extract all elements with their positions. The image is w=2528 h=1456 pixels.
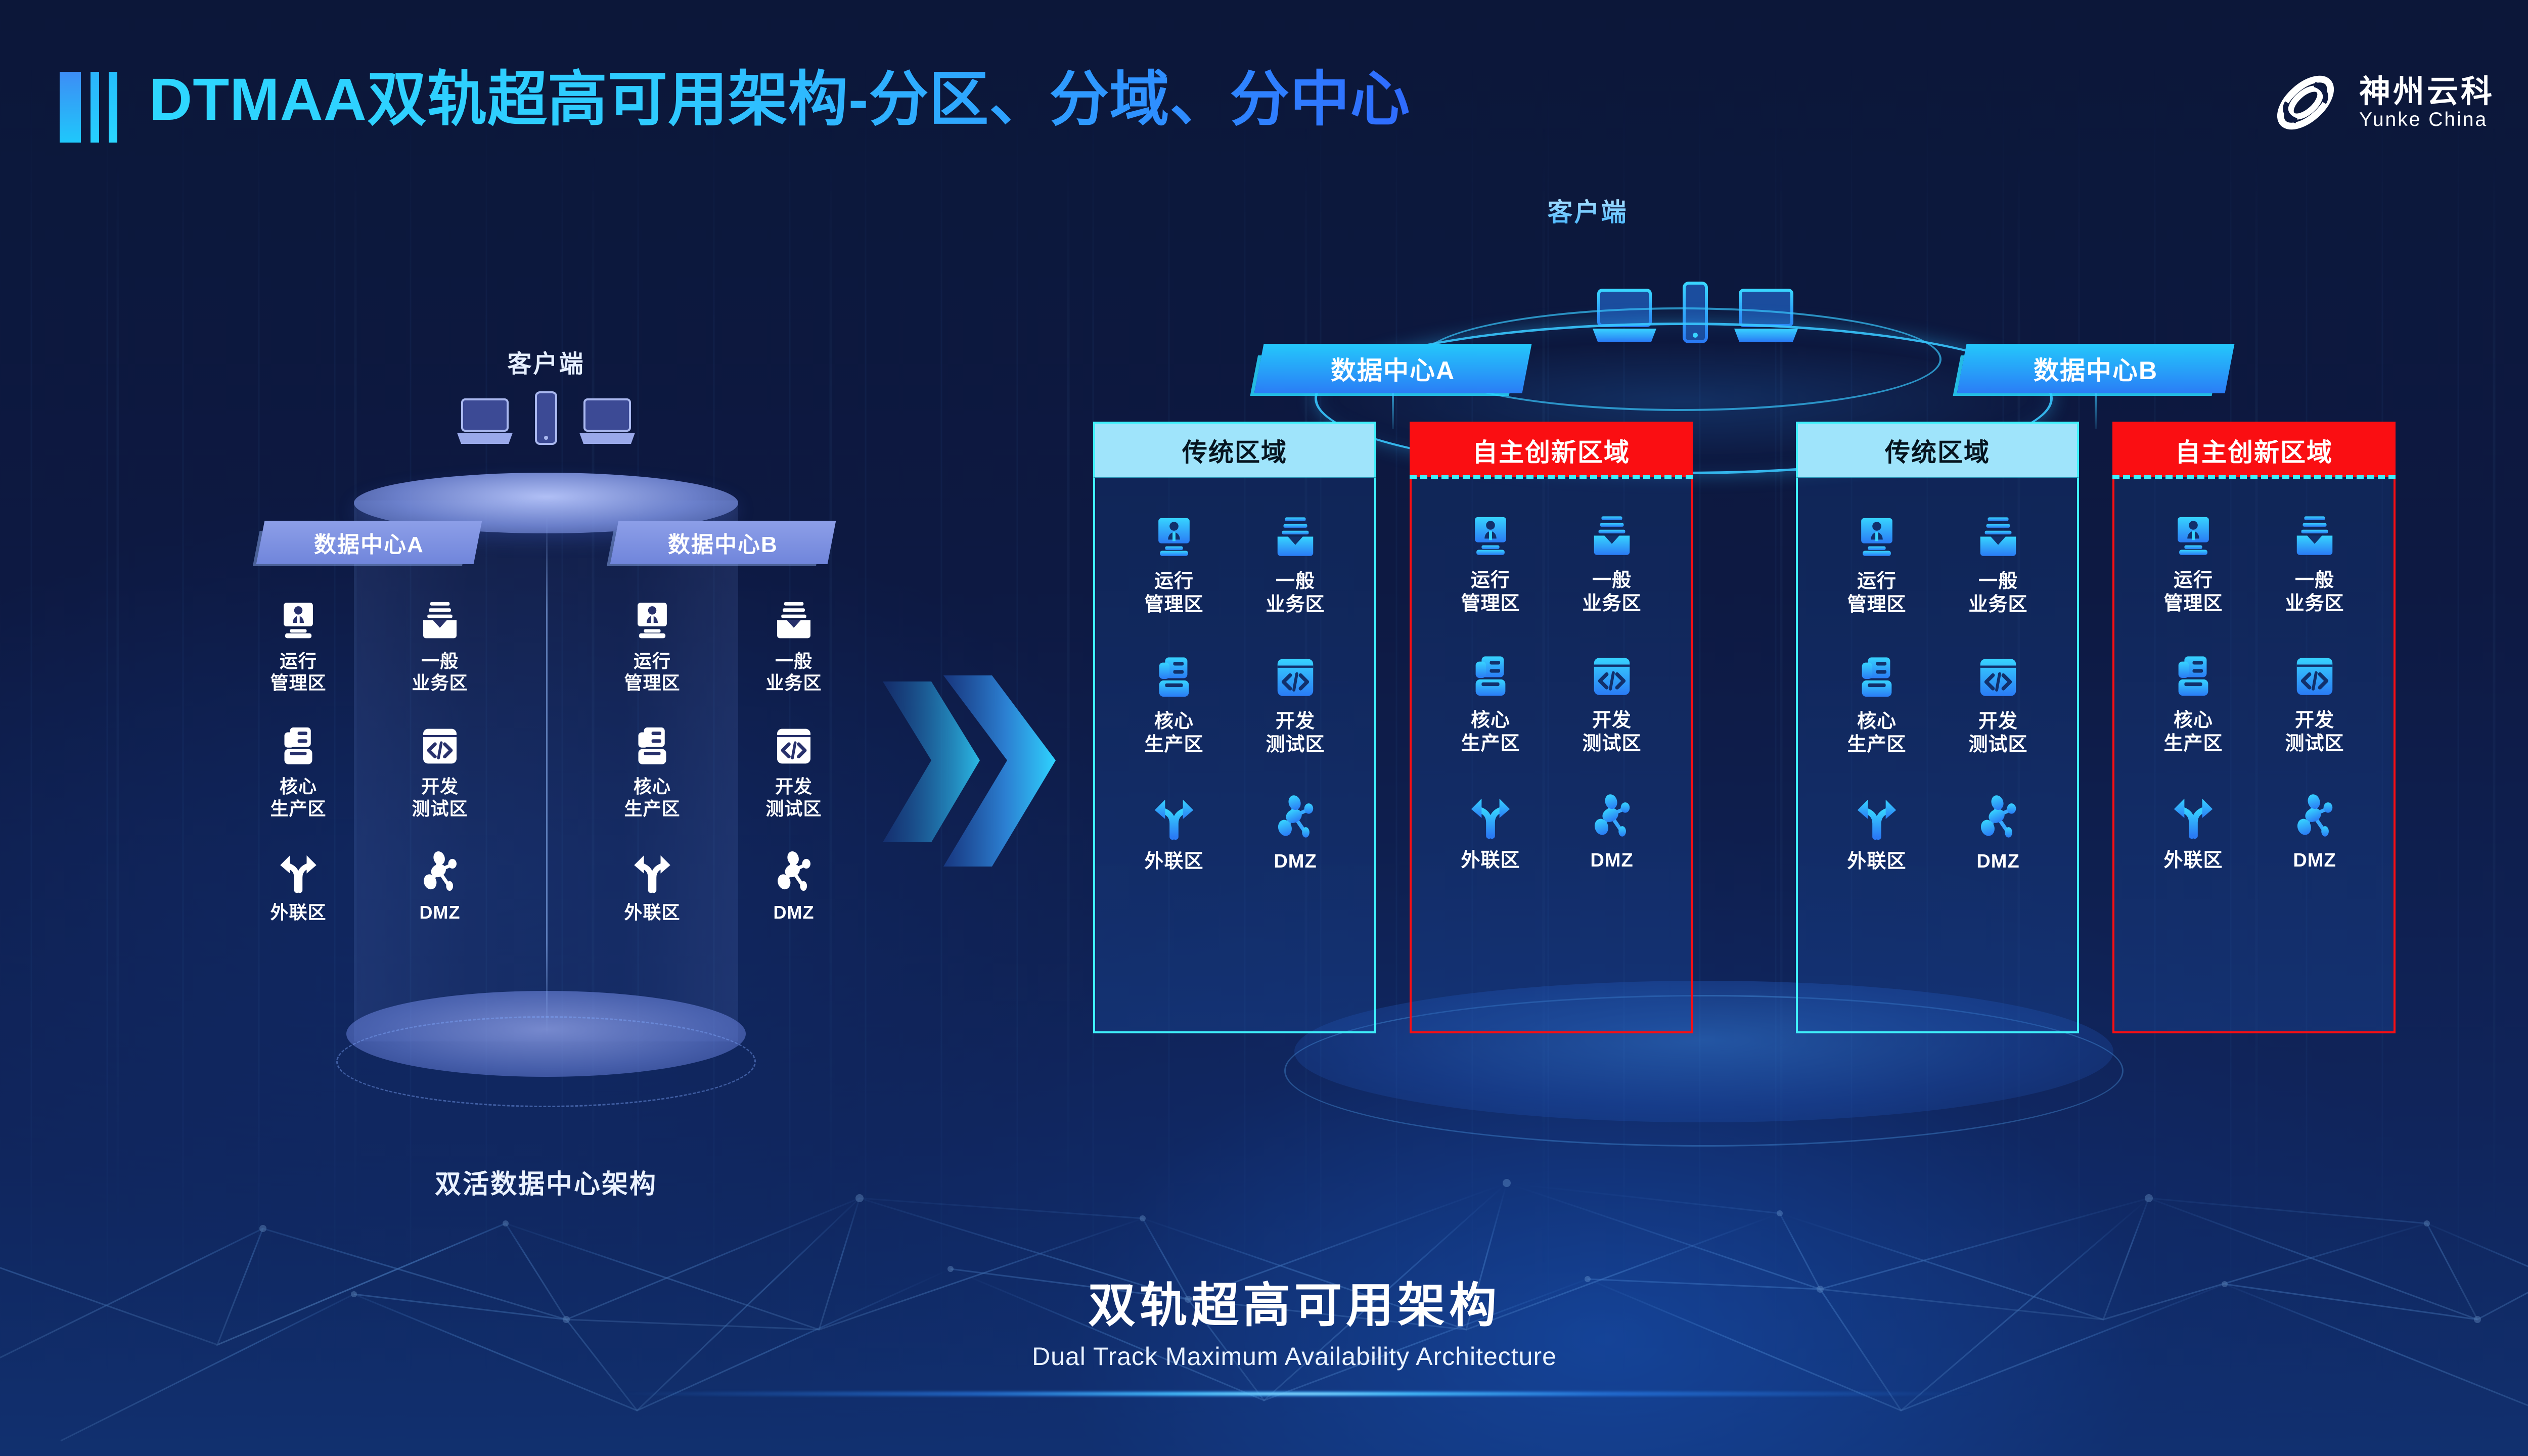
zone-grid: 运行 管理区 一般: [1113, 514, 1356, 874]
zone-cell-5[interactable]: DMZ: [1937, 794, 2059, 874]
zone-cell-5-label: DMZ: [1590, 849, 1633, 873]
innovation-dashed-separator: [2112, 475, 2396, 479]
network-nodes-icon: [1974, 794, 2022, 841]
right-dc-b-stem: [2095, 393, 2097, 429]
left-zone-b-3-label: 开发 测试区: [765, 776, 822, 819]
left-zone-a-2[interactable]: 核心 生产区: [228, 724, 369, 819]
zone-label-line2: 管理区: [624, 672, 680, 694]
zone-label-line2: 测试区: [1582, 733, 1641, 756]
right-dc-a-innovation-zone[interactable]: 自主创新区域 运行 管: [1410, 422, 1693, 1033]
page-header: DTMAA双轨超高可用架构-分区、分域、分中心 神州云科 Yunke China: [0, 0, 2528, 152]
left-zone-a-5[interactable]: DMZ: [369, 850, 511, 923]
network-nodes-icon: [1272, 794, 1319, 841]
zone-label-line1: 一般: [1582, 569, 1641, 593]
left-zone-a-4-label: 外联区: [270, 901, 326, 923]
swirl-logo-icon: [2265, 65, 2346, 141]
right-dc-a-label: 数据中心A: [1331, 350, 1455, 387]
zone-label-line1: 一般: [1968, 570, 2027, 594]
laptop-icon: [575, 397, 639, 446]
zone-label-line1: 核心: [1461, 709, 1520, 733]
right-dc-b-label: 数据中心B: [2034, 350, 2158, 387]
left-dc-a-zone-grid: 运行 管理区 一般 业务区: [192, 599, 546, 923]
zone-cell-0-label: 运行 管理区: [1847, 570, 1906, 616]
zone-cell-0[interactable]: 运行 管理区: [1113, 514, 1235, 616]
laptop-icon: [453, 397, 517, 446]
right-dc-b-innovation-title: 自主创新区域: [2112, 422, 2396, 477]
right-dc-b-zones: 传统区域 运行 管理区: [1785, 422, 2407, 1033]
zone-label-line2: 业务区: [1266, 594, 1325, 617]
person-monitor-icon: [276, 599, 321, 643]
zone-cell-1-label: 一般 业务区: [1582, 569, 1641, 615]
right-dc-a-stem: [1392, 393, 1394, 429]
inbox-tray-icon: [1588, 513, 1636, 560]
header-accent-bars: [60, 72, 117, 143]
page-title: DTMAA双轨超高可用架构-分区、分域、分中心: [149, 64, 1410, 136]
right-dc-a-traditional-body: 运行 管理区 一般: [1093, 477, 1376, 1033]
zone-label-line1: 运行: [1847, 570, 1906, 594]
network-nodes-icon: [772, 850, 816, 894]
right-dc-a-traditional-title: 传统区域: [1093, 422, 1376, 477]
zone-label-line1: DMZ: [2293, 849, 2336, 873]
zone-cell-5-label: DMZ: [1976, 850, 2019, 874]
branch-arrows-icon: [276, 850, 321, 894]
zone-label-line2: 业务区: [2285, 593, 2344, 616]
inbox-tray-icon: [2291, 513, 2338, 560]
left-zone-b-3[interactable]: 开发 测试区: [723, 724, 865, 819]
branch-arrows-icon: [1467, 793, 1514, 840]
person-monitor-icon: [2170, 513, 2217, 560]
zone-cell-0[interactable]: 运行 管理区: [1430, 513, 1551, 615]
zone-cell-2[interactable]: 核心 生产区: [1113, 654, 1235, 756]
left-zone-a-0-label: 运行 管理区: [270, 650, 326, 694]
zone-label-line2: 业务区: [1968, 594, 2027, 617]
code-window-icon: [1272, 654, 1319, 701]
zone-label-line2: 生产区: [1847, 734, 1906, 757]
zone-label-line1: 开发: [412, 776, 468, 797]
right-dc-b-traditional-zone[interactable]: 传统区域 运行 管理区: [1796, 422, 2079, 1033]
zone-cell-5[interactable]: DMZ: [1551, 793, 1673, 873]
zone-cell-5[interactable]: DMZ: [2254, 793, 2375, 873]
zone-grid: 运行 管理区 一般: [1816, 514, 2059, 874]
zone-cell-4-label: 外联区: [2163, 849, 2223, 873]
zone-label-line1: 运行: [1144, 570, 1203, 594]
left-zone-a-1-label: 一般 业务区: [412, 650, 468, 694]
zone-label-line2: 生产区: [1144, 734, 1203, 757]
zone-label-line1: 运行: [2163, 569, 2223, 593]
code-window-icon: [2291, 653, 2338, 700]
right-dc-b-banner[interactable]: 数据中心B: [1957, 344, 2234, 393]
bottom-caption-en: Dual Track Maximum Availability Architec…: [0, 1342, 2528, 1371]
right-dc-a-zones: 传统区域 运行: [1082, 422, 1704, 1033]
right-dc-b-innovation-zone[interactable]: 自主创新区域 运行 管: [2112, 422, 2396, 1033]
zone-cell-2-label: 核心 生产区: [2163, 709, 2223, 755]
left-dc-b-label: 数据中心B: [668, 526, 778, 559]
zone-label-line1: DMZ: [774, 901, 815, 923]
inbox-tray-icon: [1272, 514, 1319, 561]
server-stack-icon: [2170, 653, 2217, 700]
zone-cell-1-label: 一般 业务区: [1968, 570, 2027, 616]
zone-cell-1[interactable]: 一般 业务区: [2254, 513, 2375, 615]
zone-label-line1: 运行: [270, 650, 326, 672]
right-datacenter-a: 数据中心A 传统区域: [1082, 344, 1704, 1033]
right-datacenter-b: 数据中心B 传统区域: [1785, 344, 2407, 1033]
code-window-icon: [1974, 654, 2022, 701]
zone-cell-1-label: 一般 业务区: [2285, 569, 2344, 615]
logo-name-en: Yunke China: [2359, 110, 2495, 129]
left-zone-a-3-label: 开发 测试区: [412, 776, 468, 819]
code-window-icon: [772, 724, 816, 768]
zone-label-line1: 开发: [765, 776, 822, 797]
right-dc-b-innovation-body: 运行 管理区 一般: [2112, 477, 2396, 1033]
zone-label-line1: 开发: [2285, 709, 2344, 733]
left-client-label: 客户端: [192, 344, 900, 379]
server-stack-icon: [630, 724, 674, 768]
zone-label-line2: 管理区: [1461, 593, 1520, 616]
inbox-tray-icon: [772, 599, 816, 643]
zone-label-line1: 核心: [624, 776, 680, 797]
left-datacenter-b: 数据中心B 运行 管理区: [546, 521, 900, 923]
zone-label-line2: 业务区: [1582, 593, 1641, 616]
zone-label-line2: 生产区: [270, 798, 326, 820]
left-datacenters: 数据中心A 运行 管理区: [192, 521, 900, 923]
left-zone-b-2-label: 核心 生产区: [624, 776, 680, 819]
zone-cell-3-label: 开发 测试区: [1968, 710, 2027, 756]
zone-cell-0-label: 运行 管理区: [1144, 570, 1203, 616]
left-zone-a-2-label: 核心 生产区: [270, 776, 326, 819]
zone-label-line1: 核心: [1847, 710, 1906, 734]
person-monitor-icon: [1150, 514, 1198, 561]
left-zone-b-5[interactable]: DMZ: [723, 850, 865, 923]
zone-cell-2-label: 核心 生产区: [1144, 710, 1203, 756]
zone-label-line2: 生产区: [2163, 733, 2223, 756]
right-dc-b-traditional-title: 传统区域: [1796, 422, 2079, 477]
left-zone-a-0[interactable]: 运行 管理区: [228, 599, 369, 694]
zone-label-line1: DMZ: [1274, 850, 1317, 874]
right-client-label: 客户端: [1497, 192, 1679, 229]
code-window-icon: [1588, 653, 1636, 700]
code-window-icon: [418, 724, 462, 768]
server-stack-icon: [1853, 654, 1901, 701]
zone-label-line1: 一般: [2285, 569, 2344, 593]
zone-label-line2: 测试区: [1266, 734, 1325, 757]
left-zone-b-4-label: 外联区: [624, 901, 680, 923]
logo-name-cn: 神州云科: [2359, 76, 2495, 108]
right-dc-b-traditional-body: 运行 管理区 一般: [1796, 477, 2079, 1033]
zone-label-line1: 运行: [1461, 569, 1520, 593]
left-dc-b-zone-grid: 运行 管理区 一般 业务区: [546, 599, 900, 923]
zone-label-line1: 核心: [1144, 710, 1203, 734]
zone-cell-4[interactable]: 外联区: [1816, 794, 1937, 874]
right-dc-a-traditional-zone[interactable]: 传统区域 运行: [1093, 422, 1376, 1033]
zone-label-line1: 外联区: [1847, 850, 1906, 874]
zone-label-line2: 业务区: [412, 672, 468, 694]
zone-cell-2[interactable]: 核心 生产区: [2133, 653, 2254, 755]
network-nodes-icon: [2291, 793, 2338, 840]
zone-label-line1: 运行: [624, 650, 680, 672]
server-stack-icon: [1150, 654, 1198, 701]
zone-label-line1: 一般: [765, 650, 822, 672]
dtmaa-architecture-panel: 客户端 数据中心A 传统区域: [1011, 192, 2477, 1203]
accent-bar-narrow-icon: [91, 72, 99, 143]
left-dc-a-label: 数据中心A: [314, 526, 424, 559]
left-zone-b-4[interactable]: 外联区: [581, 850, 723, 923]
zone-label-line2: 测试区: [412, 798, 468, 820]
zone-cell-3-label: 开发 测试区: [1266, 710, 1325, 756]
zone-label-line1: DMZ: [420, 901, 461, 923]
left-zone-a-1[interactable]: 一般 业务区: [369, 599, 511, 694]
zone-label-line2: 管理区: [2163, 593, 2223, 616]
zone-cell-0[interactable]: 运行 管理区: [2133, 513, 2254, 615]
zone-grid: 运行 管理区 一般: [1430, 513, 1673, 873]
left-zone-a-5-label: DMZ: [420, 901, 461, 923]
left-dc-b-banner[interactable]: 数据中心B: [610, 521, 836, 564]
zone-label-line2: 生产区: [624, 798, 680, 820]
branch-arrows-icon: [1150, 794, 1198, 841]
zone-cell-4[interactable]: 外联区: [1430, 793, 1551, 873]
zone-label-line2: 管理区: [1847, 594, 1906, 617]
zone-label-line1: 外联区: [2163, 849, 2223, 873]
server-stack-icon: [276, 724, 321, 768]
left-zone-b-5-label: DMZ: [774, 901, 815, 923]
right-dc-a-innovation-title: 自主创新区域: [1410, 422, 1693, 477]
zone-cell-1[interactable]: 一般 业务区: [1235, 514, 1356, 616]
zone-cell-1[interactable]: 一般 业务区: [1551, 513, 1673, 615]
inbox-tray-icon: [418, 599, 462, 643]
bottom-caption-cn: 双轨超高可用架构: [0, 1276, 2528, 1335]
right-dc-a-banner[interactable]: 数据中心A: [1254, 344, 1531, 393]
zone-cell-2[interactable]: 核心 生产区: [1816, 654, 1937, 756]
zone-cell-3-label: 开发 测试区: [1582, 709, 1641, 755]
network-nodes-icon: [418, 850, 462, 894]
zone-cell-4-label: 外联区: [1461, 849, 1520, 873]
zone-cell-2-label: 核心 生产区: [1461, 709, 1520, 755]
zone-label-line2: 测试区: [765, 798, 822, 820]
branch-arrows-icon: [2170, 793, 2217, 840]
left-zone-a-3[interactable]: 开发 测试区: [369, 724, 511, 819]
zone-label-line1: 一般: [1266, 570, 1325, 594]
zone-cell-1[interactable]: 一般 业务区: [1937, 514, 2059, 616]
left-zone-b-1[interactable]: 一般 业务区: [723, 599, 865, 694]
zone-label-line1: 外联区: [1461, 849, 1520, 873]
zone-label-line1: 核心: [270, 776, 326, 797]
zone-cell-0[interactable]: 运行 管理区: [1816, 514, 1937, 616]
server-stack-icon: [1467, 653, 1514, 700]
network-nodes-icon: [1588, 793, 1636, 840]
zone-label-line1: 开发: [1582, 709, 1641, 733]
zone-cell-5[interactable]: DMZ: [1235, 794, 1356, 874]
zone-cell-5-label: DMZ: [1274, 850, 1317, 874]
left-zone-a-4[interactable]: 外联区: [228, 850, 369, 923]
person-monitor-icon: [1853, 514, 1901, 561]
zone-cell-4-label: 外联区: [1144, 850, 1203, 874]
left-zone-b-0[interactable]: 运行 管理区: [581, 599, 723, 694]
innovation-dashed-separator: [1410, 475, 1693, 479]
zone-cell-2[interactable]: 核心 生产区: [1430, 653, 1551, 755]
zone-label-line2: 管理区: [1144, 594, 1203, 617]
left-client-devices: [453, 390, 639, 446]
zone-label-line1: 核心: [2163, 709, 2223, 733]
inbox-tray-icon: [1974, 514, 2022, 561]
zone-cell-4[interactable]: 外联区: [1113, 794, 1235, 874]
zone-label-line1: DMZ: [1976, 850, 2019, 874]
left-zone-b-0-label: 运行 管理区: [624, 650, 680, 694]
branch-arrows-icon: [630, 850, 674, 894]
left-panel-caption: 双活数据中心架构: [192, 1163, 900, 1201]
zone-label-line2: 生产区: [1461, 733, 1520, 756]
zone-label-line1: 开发: [1968, 710, 2027, 734]
left-datacenter-a: 数据中心A 运行 管理区: [192, 521, 546, 923]
person-monitor-icon: [1467, 513, 1514, 560]
legacy-architecture-panel: 客户端 数据中心A: [192, 354, 900, 1213]
zone-grid: 运行 管理区 一般: [2133, 513, 2375, 873]
person-monitor-icon: [630, 599, 674, 643]
zone-cell-3[interactable]: 开发 测试区: [1937, 654, 2059, 756]
branch-arrows-icon: [1853, 794, 1901, 841]
zone-label-line1: 一般: [412, 650, 468, 672]
left-zone-b-1-label: 一般 业务区: [765, 650, 822, 694]
zone-cell-0-label: 运行 管理区: [1461, 569, 1520, 615]
zone-cell-3[interactable]: 开发 测试区: [1235, 654, 1356, 756]
zone-label-line2: 业务区: [765, 672, 822, 694]
left-dc-a-banner[interactable]: 数据中心A: [256, 521, 482, 564]
bottom-glow-line: [612, 1391, 1977, 1396]
zone-cell-3[interactable]: 开发 测试区: [1551, 653, 1673, 755]
bottom-caption: 双轨超高可用架构 Dual Track Maximum Availability…: [0, 1276, 2528, 1372]
zone-cell-1-label: 一般 业务区: [1266, 570, 1325, 616]
zone-cell-5-label: DMZ: [2293, 849, 2336, 873]
left-zone-b-2[interactable]: 核心 生产区: [581, 724, 723, 819]
accent-bar-wide-icon: [60, 72, 81, 143]
zone-label-line2: 管理区: [270, 672, 326, 694]
zone-label-line2: 测试区: [2285, 733, 2344, 756]
zone-cell-3[interactable]: 开发 测试区: [2254, 653, 2375, 755]
zone-label-line1: 开发: [1266, 710, 1325, 734]
zone-label-line1: DMZ: [1590, 849, 1633, 873]
right-dc-a-innovation-body: 运行 管理区 一般: [1410, 477, 1693, 1033]
zone-label-line1: 外联区: [270, 901, 326, 923]
zone-label-line1: 外联区: [1144, 850, 1203, 874]
accent-bar-narrow-icon: [109, 72, 117, 143]
brand-logo: 神州云科 Yunke China: [2265, 65, 2495, 141]
zone-cell-3-label: 开发 测试区: [2285, 709, 2344, 755]
phone-icon: [534, 390, 558, 446]
zone-cell-0-label: 运行 管理区: [2163, 569, 2223, 615]
zone-label-line2: 测试区: [1968, 734, 2027, 757]
zone-label-line1: 外联区: [624, 901, 680, 923]
zone-cell-2-label: 核心 生产区: [1847, 710, 1906, 756]
zone-cell-4[interactable]: 外联区: [2133, 793, 2254, 873]
zone-cell-4-label: 外联区: [1847, 850, 1906, 874]
